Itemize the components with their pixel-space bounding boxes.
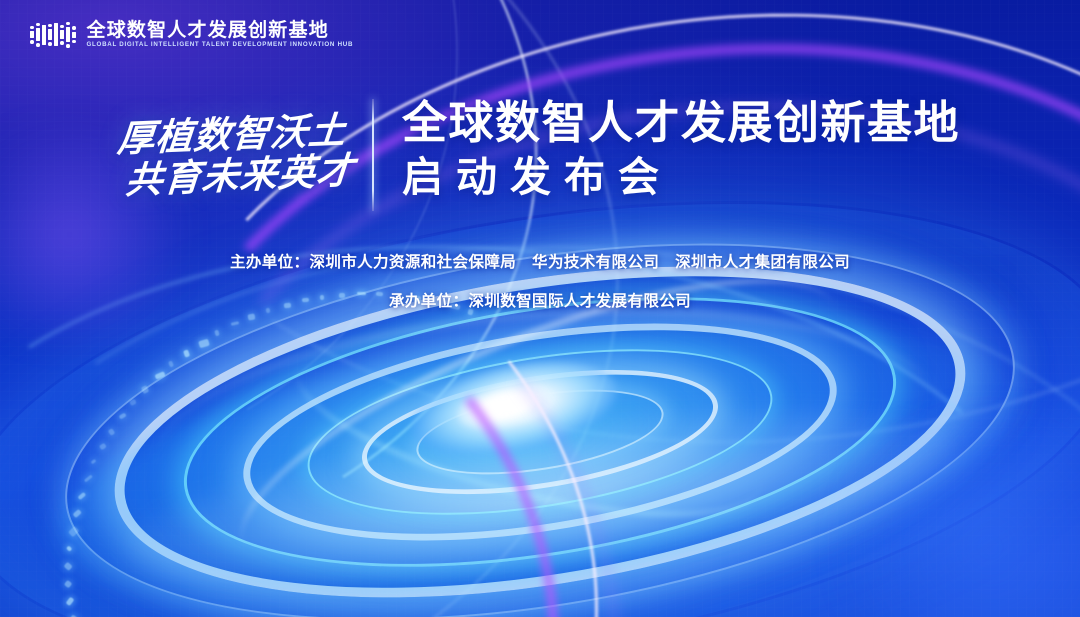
brand-name-cn: 全球数智人才发展创新基地: [87, 21, 354, 40]
equalizer-bar-column: [48, 22, 52, 48]
slogan-line-2: 共育未来英才: [124, 151, 360, 201]
equalizer-bar-column: [60, 22, 64, 48]
brand-name-en: GLOBAL DIGITAL INTELLIGENT TALENT DEVELO…: [87, 42, 354, 48]
vertical-divider: [372, 99, 374, 211]
slogan-block: 厚植数智沃土 共育未来英才: [118, 96, 358, 214]
equalizer-bar-column: [54, 22, 58, 48]
equalizer-bar-column: [42, 22, 46, 48]
page-subtitle: 启动发布会: [402, 152, 960, 203]
brand-logo-text: 全球数智人才发展创新基地 GLOBAL DIGITAL INTELLIGENT …: [87, 21, 354, 48]
page-title: 全球数智人才发展创新基地: [402, 98, 960, 148]
equalizer-bar-column: [36, 22, 40, 48]
title-block: 全球数智人才发展创新基地 启动发布会: [402, 98, 960, 204]
poster-canvas: 全球数智人才发展创新基地 GLOBAL DIGITAL INTELLIGENT …: [0, 0, 1080, 617]
organizers-line: 主办单位：深圳市人力资源和社会保障局 华为技术有限公司 深圳市人才集团有限公司: [230, 250, 850, 272]
equalizer-bars-logo-icon: [30, 22, 76, 48]
co-organizer-line: 承办单位：深圳数智国际人才发展有限公司: [389, 289, 691, 311]
brand-logo[interactable]: 全球数智人才发展创新基地 GLOBAL DIGITAL INTELLIGENT …: [30, 21, 353, 48]
credits-block: 主办单位：深圳市人力资源和社会保障局 华为技术有限公司 深圳市人才集团有限公司 …: [0, 250, 1080, 311]
equalizer-bar-column: [66, 22, 70, 48]
equalizer-bar-column: [30, 22, 34, 48]
equalizer-bar-column: [72, 22, 76, 48]
